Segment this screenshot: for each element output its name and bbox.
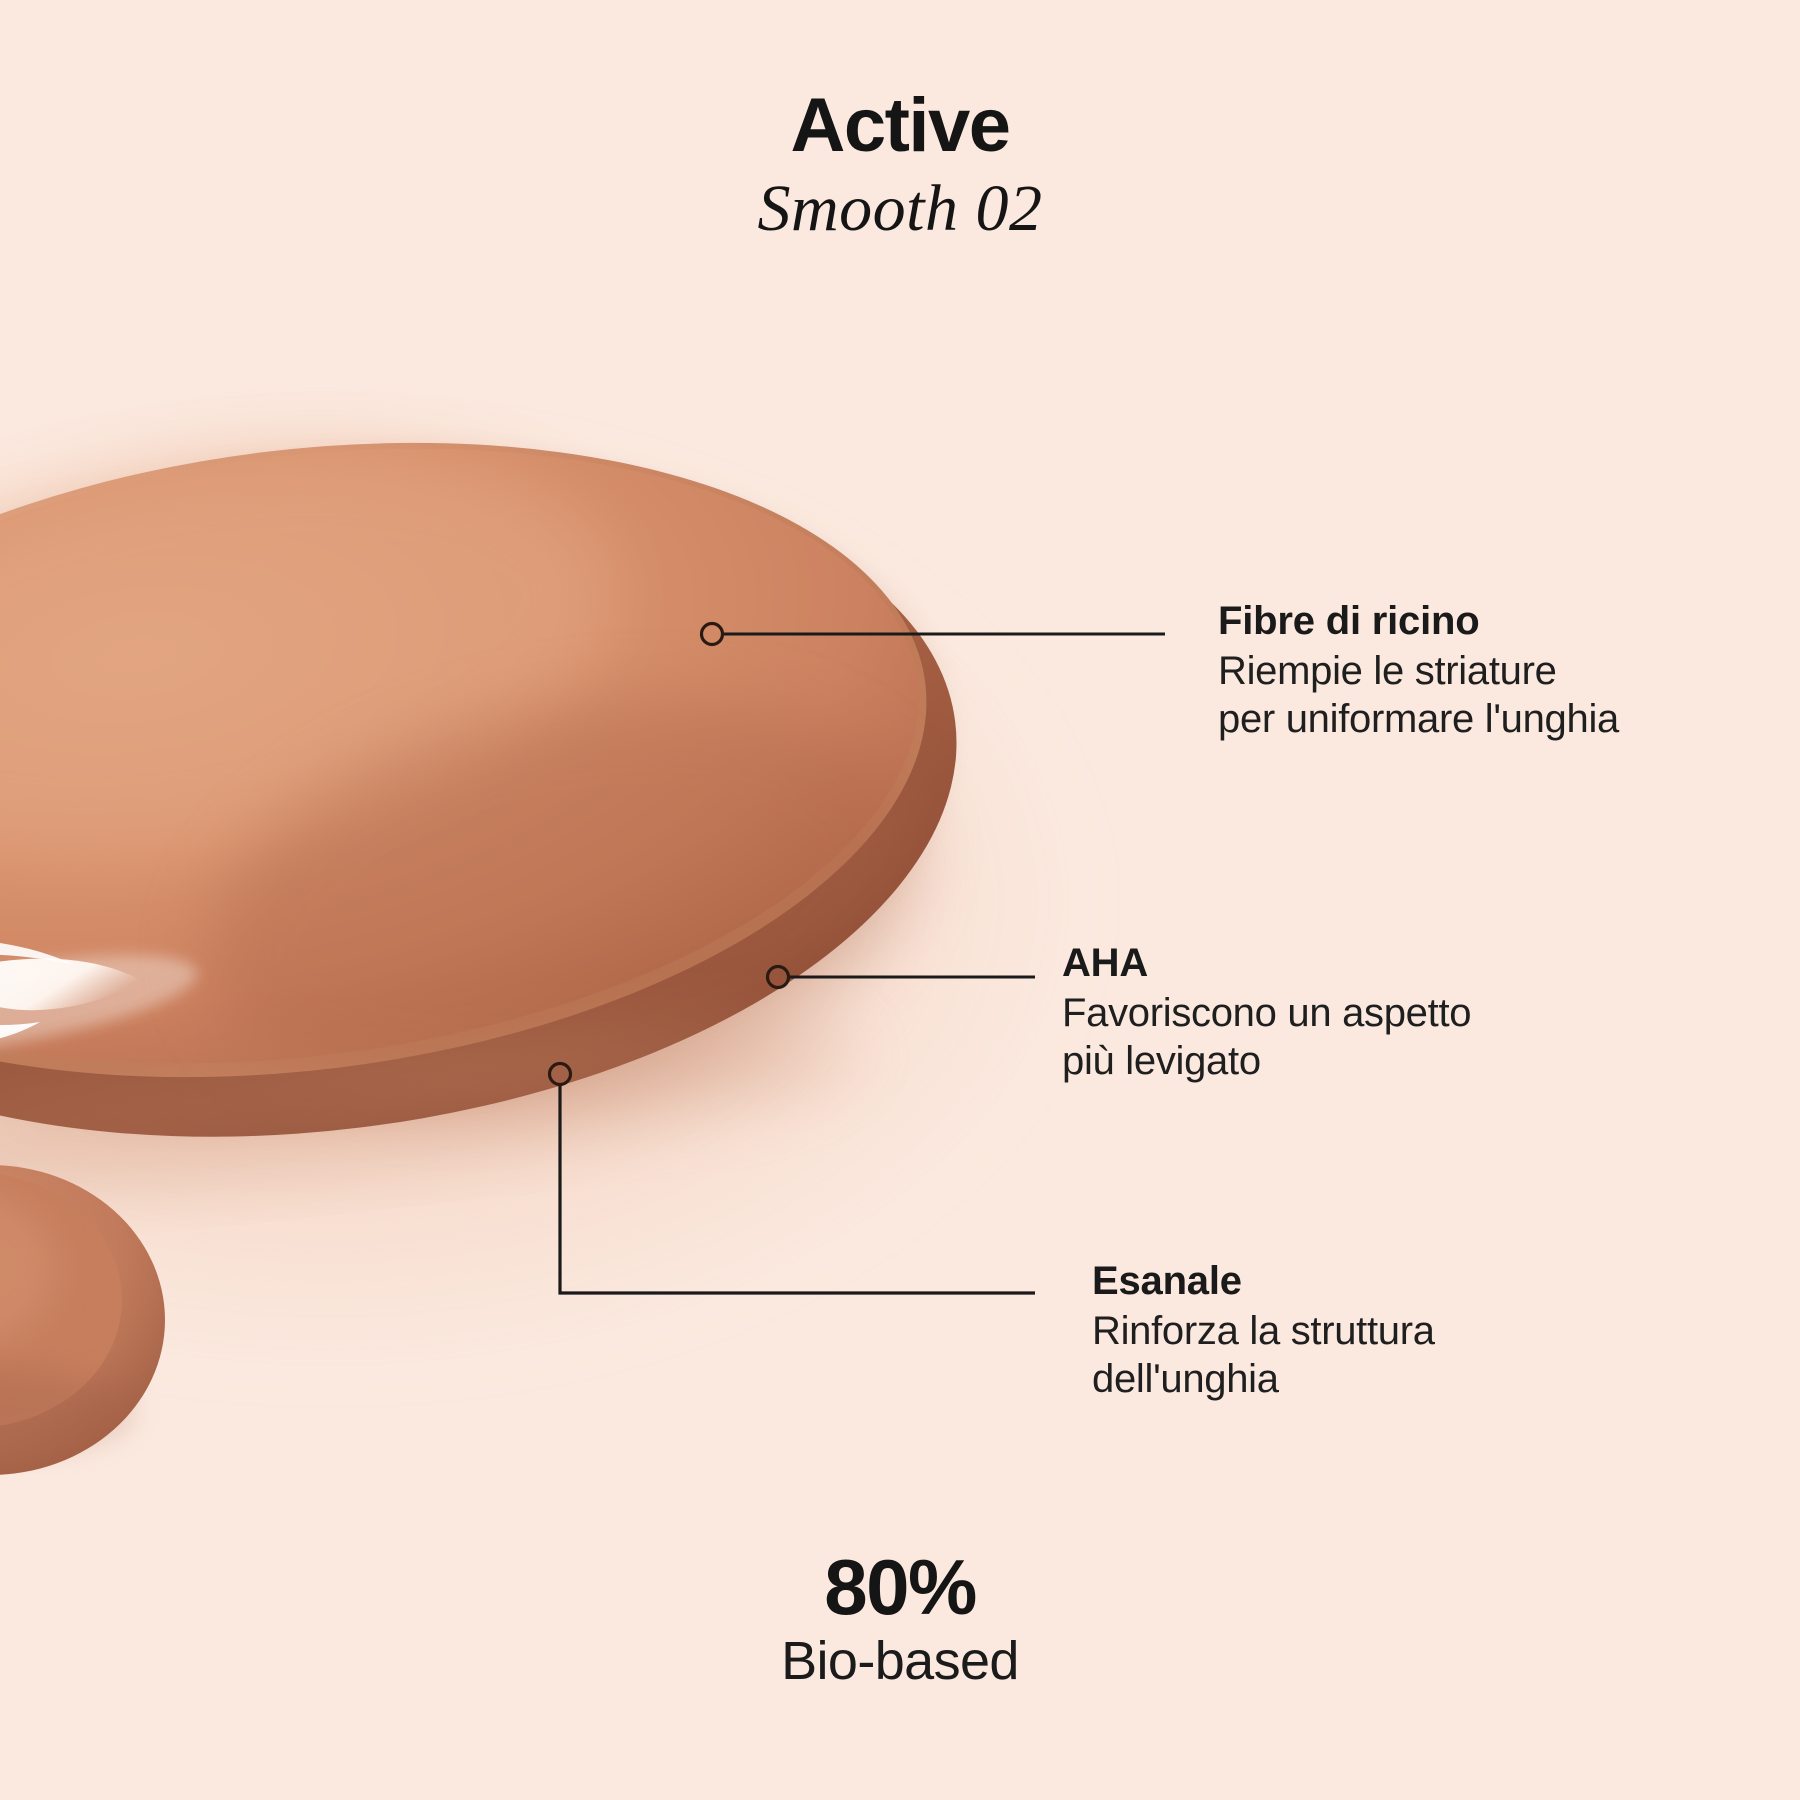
leader-line-2 bbox=[768, 967, 1036, 988]
title-block: Active Smooth 02 bbox=[0, 88, 1800, 253]
callout-title: AHA bbox=[1062, 940, 1622, 987]
page-subtitle: Smooth 02 bbox=[0, 164, 1800, 253]
bio-based-claim: 80% Bio-based bbox=[0, 1548, 1800, 1695]
product-infographic: Active Smooth 02 Fibre di ricino Riempie… bbox=[0, 0, 1800, 1800]
callout-esanale: Esanale Rinforza la struttura dell'unghi… bbox=[1092, 1258, 1652, 1403]
leader-line-1 bbox=[702, 624, 1166, 645]
callout-title: Esanale bbox=[1092, 1258, 1652, 1305]
leader-line-3 bbox=[550, 1064, 1036, 1294]
callout-title: Fibre di ricino bbox=[1218, 598, 1738, 645]
page-title: Active bbox=[0, 88, 1800, 164]
callout-description: Riempie le striature per uniformare l'un… bbox=[1218, 647, 1738, 743]
callout-fibre-di-ricino: Fibre di ricino Riempie le striature per… bbox=[1218, 598, 1738, 743]
callout-description: Favoriscono un aspetto più levigato bbox=[1062, 989, 1622, 1085]
callout-description: Rinforza la struttura dell'unghia bbox=[1092, 1307, 1652, 1403]
callout-aha: AHA Favoriscono un aspetto più levigato bbox=[1062, 940, 1622, 1085]
claim-label: Bio-based bbox=[0, 1628, 1800, 1696]
claim-percentage: 80% bbox=[0, 1548, 1800, 1628]
nail-polish-droplet-illustration bbox=[0, 0, 1800, 1800]
